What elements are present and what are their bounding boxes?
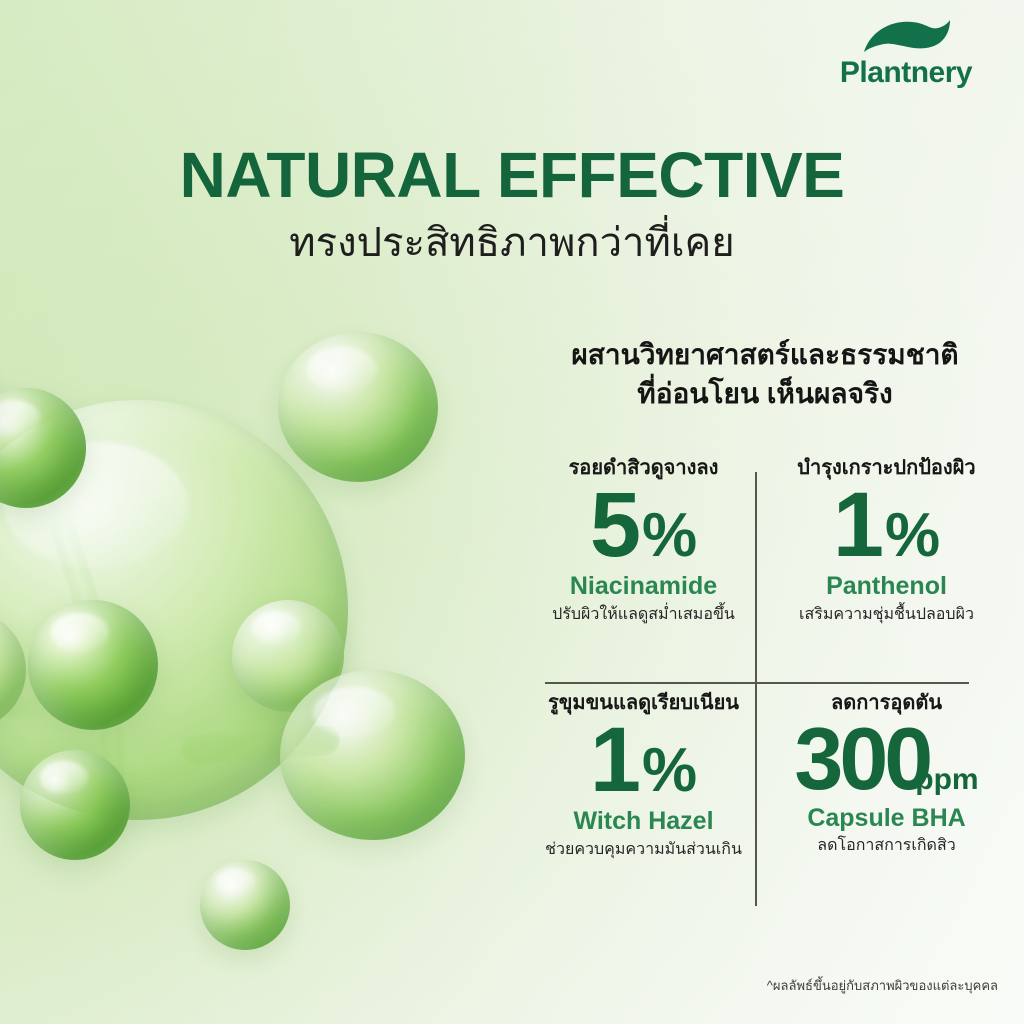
stat-value: 5 % (528, 482, 759, 569)
tagline-line-1: ผสานวิทยาศาสตร์และธรรมชาติ (520, 336, 1010, 375)
stat-ingredient: Niacinamide (528, 573, 759, 601)
ingredient-stat-grid: รอยดำสิวดูจางลง 5 % Niacinamide ปรับผิวใ… (522, 452, 1008, 922)
headline-block: NATURAL EFFECTIVE ทรงประสิทธิภาพกว่าที่เ… (0, 142, 1024, 267)
stat-card-capsule-bha: ลดการอุดตัน 300 ppm Capsule BHA ลดโอกาสก… (765, 687, 1008, 922)
stat-description: ปรับผิวให้แลดูสม่ำเสมอขึ้น (528, 605, 759, 624)
stat-number: 1 (590, 717, 638, 804)
stat-unit: % (642, 742, 697, 801)
stat-unit: ppm (915, 766, 978, 795)
molecule-illustration (0, 300, 520, 960)
stat-value: 1 % (528, 717, 759, 804)
tagline-block: ผสานวิทยาศาสตร์และธรรมชาติ ที่อ่อนโยน เห… (520, 336, 1010, 413)
stat-number: 1 (833, 482, 881, 569)
stat-value: 1 % (771, 482, 1002, 569)
stat-description: ช่วยควบคุมความมันส่วนเกิน (528, 840, 759, 859)
stat-number: 300 (794, 717, 929, 801)
stat-ingredient: Witch Hazel (528, 808, 759, 836)
footnote: ^ผลลัพธ์ขึ้นอยู่กับสภาพผิวของแต่ละบุคคล (767, 975, 998, 996)
stat-ingredient: Panthenol (771, 573, 1002, 601)
stat-value: 300 ppm (771, 717, 1002, 801)
page-subtitle: ทรงประสิทธิภาพกว่าที่เคย (0, 219, 1024, 267)
tagline-line-2: ที่อ่อนโยน เห็นผลจริง (520, 375, 1010, 414)
stat-card-panthenol: บำรุงเกราะปกป้องผิว 1 % Panthenol เสริมค… (765, 452, 1008, 687)
poster-canvas: Plantnery NATURAL EFFECTIVE ทรงประสิทธิภ… (0, 0, 1024, 1024)
stat-number: 5 (590, 482, 638, 569)
stat-card-niacinamide: รอยดำสิวดูจางลง 5 % Niacinamide ปรับผิวใ… (522, 452, 765, 687)
stat-description: ลดโอกาสการเกิดสิว (771, 836, 1002, 855)
stat-benefit: รอยดำสิวดูจางลง (528, 456, 759, 480)
brand-logo[interactable]: Plantnery (816, 16, 996, 88)
stat-unit: % (642, 507, 697, 566)
floating-bubble (280, 670, 465, 840)
floating-bubble (200, 860, 290, 950)
brand-name: Plantnery (816, 58, 996, 88)
floating-bubble (278, 332, 438, 482)
molecule-sphere (28, 600, 158, 730)
stat-card-witch-hazel: รูขุมขนแลดูเรียบเนียน 1 % Witch Hazel ช่… (522, 687, 765, 922)
stat-ingredient: Capsule BHA (771, 805, 1002, 833)
stat-benefit: บำรุงเกราะปกป้องผิว (771, 456, 1002, 480)
page-title: NATURAL EFFECTIVE (0, 142, 1024, 209)
leaf-icon (860, 16, 952, 56)
molecule-sphere (20, 750, 130, 860)
stat-unit: % (885, 507, 940, 566)
stat-description: เสริมความชุ่มชื้นปลอบผิว (771, 605, 1002, 624)
stat-benefit: รูขุมขนแลดูเรียบเนียน (528, 691, 759, 715)
